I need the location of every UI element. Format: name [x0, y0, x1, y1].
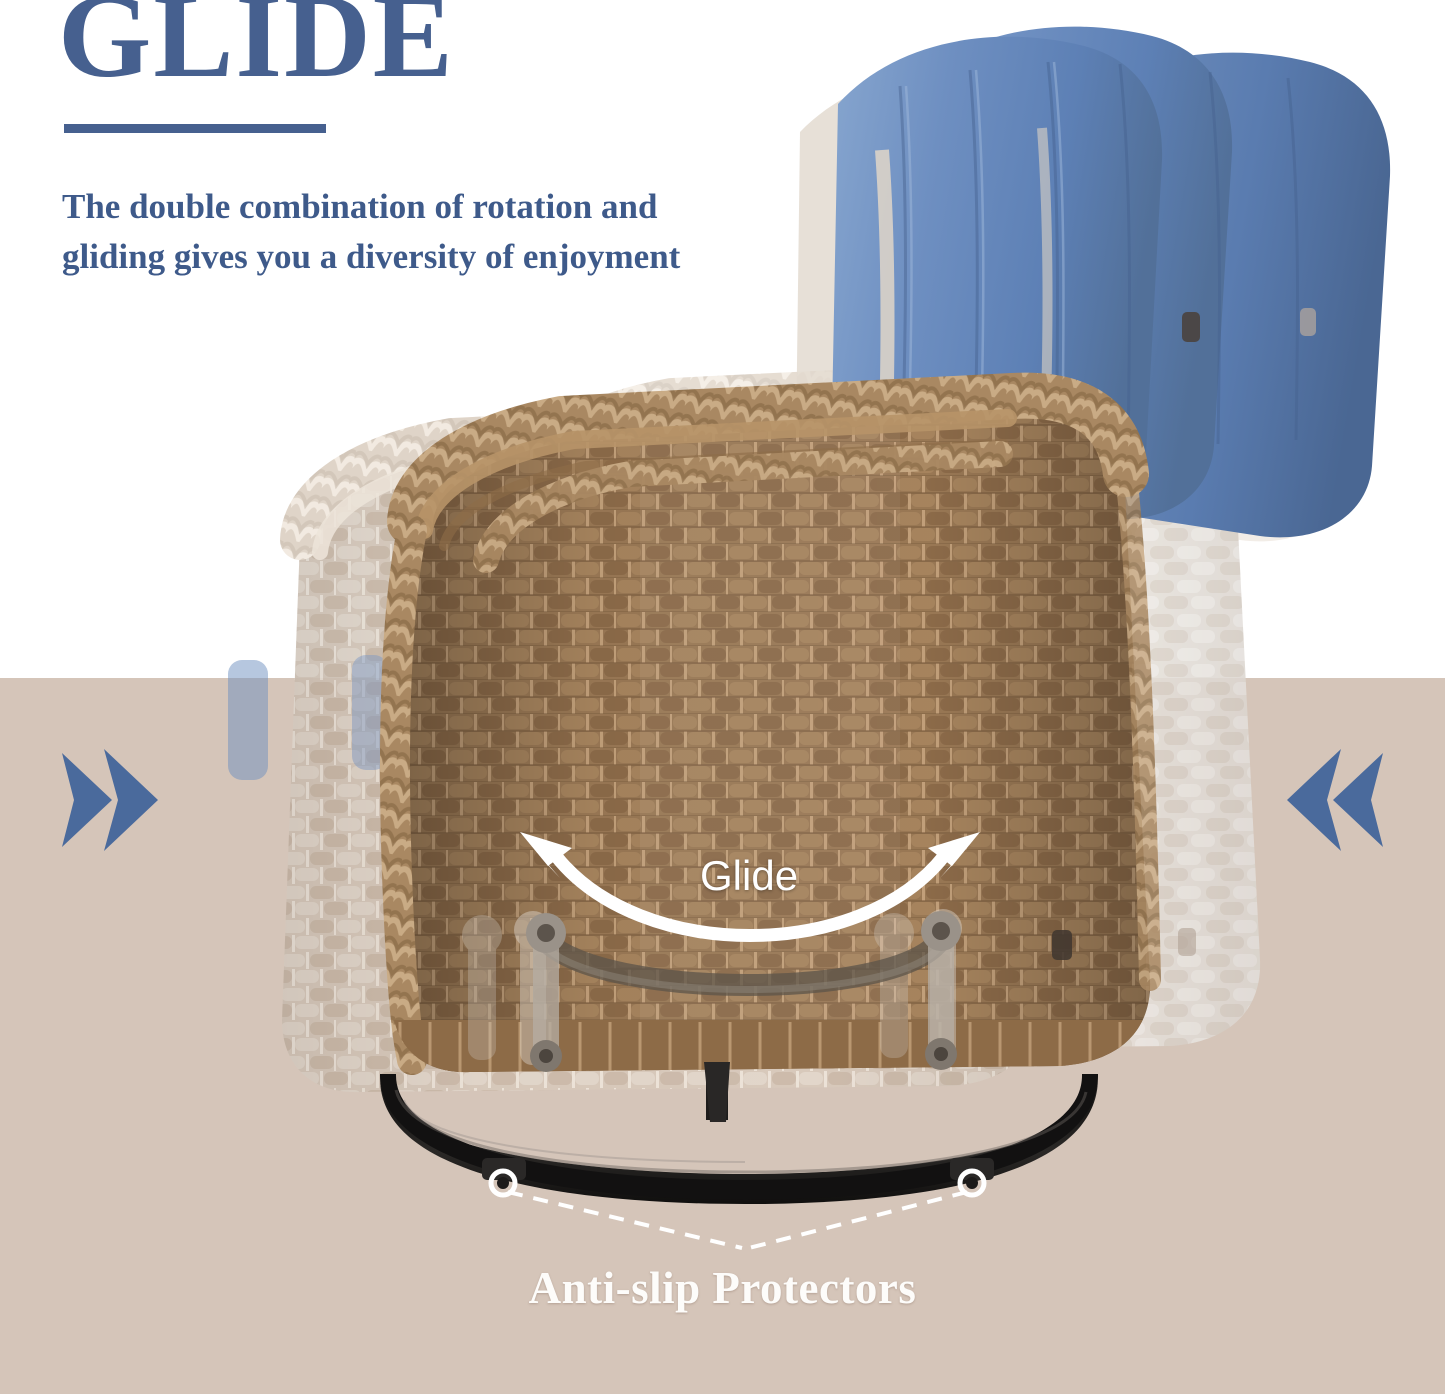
- product-infographic-canvas: GLIDE The double combination of rotation…: [0, 0, 1445, 1394]
- anti-slip-protectors-label: Anti-slip Protectors: [0, 1262, 1445, 1314]
- glide-arc-label: Glide: [700, 852, 798, 900]
- hardware-stud: [1300, 308, 1316, 336]
- chevrons-right: [1287, 749, 1383, 851]
- chevron-left-icon-1: [1333, 753, 1383, 847]
- page-subtitle: The double combination of rotation and g…: [62, 182, 862, 281]
- chevron-left-icon-2: [1287, 749, 1341, 851]
- hardware-stud: [1052, 930, 1072, 960]
- subtitle-line-2: gliding gives you a diversity of enjoyme…: [62, 232, 862, 282]
- subtitle-line-1: The double combination of rotation and: [62, 182, 862, 232]
- page-title: GLIDE: [58, 0, 455, 96]
- hardware-stud: [1178, 928, 1196, 956]
- hardware-stud: [1182, 312, 1200, 342]
- chevron-right-icon-2: [104, 749, 158, 851]
- chevrons-left: [62, 749, 158, 851]
- title-underline-rule: [64, 124, 326, 133]
- chevron-right-icon-1: [62, 753, 112, 847]
